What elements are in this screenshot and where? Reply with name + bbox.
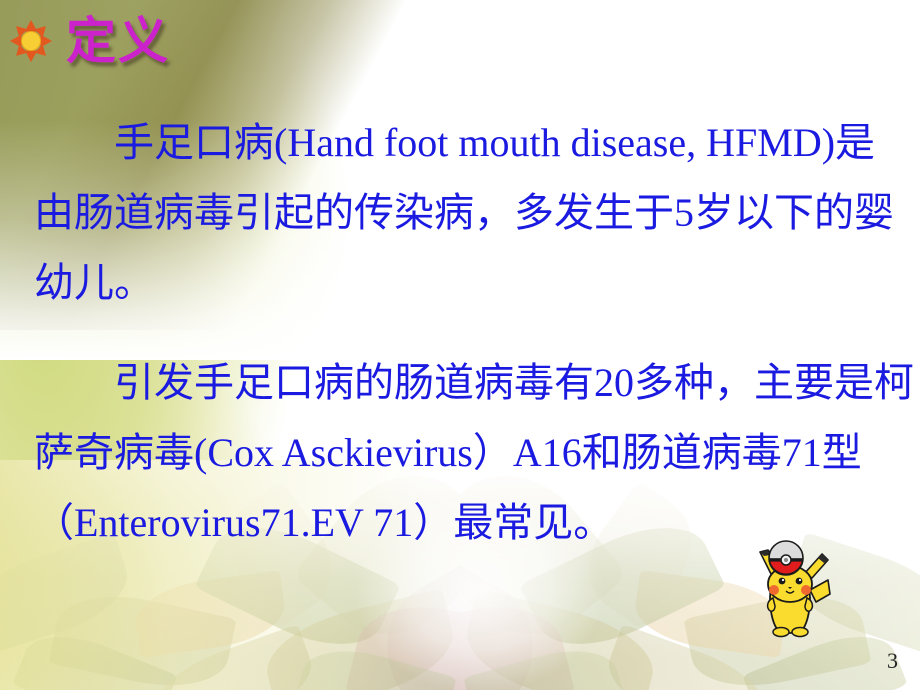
paragraph-definition-text: 手足口病(Hand foot mouth disease, HFMD)是由肠道病… [34,120,894,305]
page-number: 3 [887,650,898,672]
pikachu-character-icon [742,536,838,640]
page-title: 定义 [66,16,170,66]
paragraph-definition: 手足口病(Hand foot mouth disease, HFMD)是由肠道病… [34,108,914,318]
slide-canvas: 定义 手足口病(Hand foot mouth disease, HFMD)是由… [0,0,920,690]
sun-star-icon [10,20,52,62]
paragraph-viruses-text: 引发手足口病的肠道病毒有20多种，主要是柯萨奇病毒(Cox Asckieviru… [34,360,914,545]
slide-body: 手足口病(Hand foot mouth disease, HFMD)是由肠道病… [34,108,914,558]
slide-title-row: 定义 [10,16,170,66]
paragraph-viruses: 引发手足口病的肠道病毒有20多种，主要是柯萨奇病毒(Cox Asckieviru… [34,348,914,558]
